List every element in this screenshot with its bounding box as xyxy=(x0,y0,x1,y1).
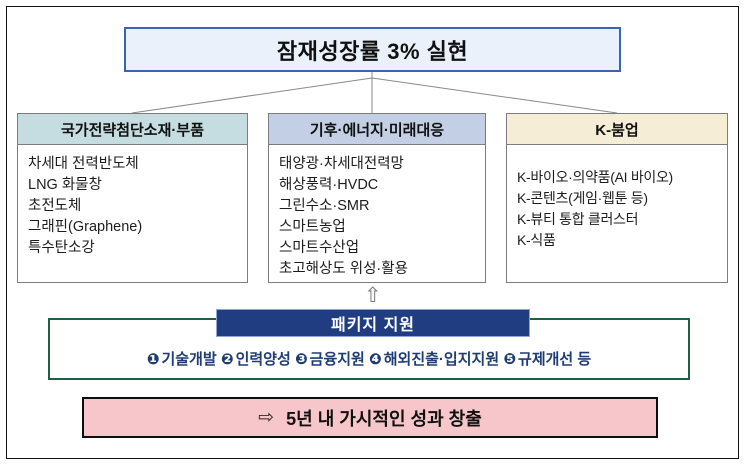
support-number: ❷ xyxy=(221,351,234,368)
support-number: ❶ xyxy=(147,351,160,368)
support-item-5: ❺규제개선 등 xyxy=(503,351,591,368)
package-support-bar: 패키지 지원 xyxy=(216,309,530,337)
pillar-column-k-boomup: K-붐업 K-바이오·의약품(AI 바이오) K-콘텐츠(게임·웹툰 등) K-… xyxy=(506,113,728,283)
list-item: 차세대 전력반도체 xyxy=(28,154,237,175)
list-item: 초고해상도 위성·활용 xyxy=(279,259,475,280)
arrow-up-icon: ⇧ xyxy=(364,285,382,306)
pillar-header-label: K-붐업 xyxy=(595,119,638,140)
pillar-header-climate-energy: 기후·에너지·미래대응 xyxy=(268,113,486,145)
list-item: LNG 화물창 xyxy=(28,175,237,196)
support-label: 인력양성 xyxy=(236,351,291,368)
list-item: 초전도체 xyxy=(28,196,237,217)
support-number: ❺ xyxy=(503,351,516,368)
list-item: K-뷰티 통합 클러스터 xyxy=(517,209,717,230)
pillar-header-label: 기후·에너지·미래대응 xyxy=(310,119,444,140)
page-title: 잠재성장률 3% 실현 xyxy=(277,34,468,66)
list-item: 태양광·차세대전력망 xyxy=(279,154,475,175)
pillar-header-label: 국가전략첨단소재·부품 xyxy=(61,119,204,140)
package-support-bar-label: 패키지 지원 xyxy=(331,311,415,335)
list-item: K-바이오·의약품(AI 바이오) xyxy=(517,167,717,188)
pillar-header-k-boomup: K-붐업 xyxy=(506,113,728,145)
pillar-column-climate-energy: 기후·에너지·미래대응 태양광·차세대전력망 해상풍력·HVDC 그린수소·SM… xyxy=(268,113,486,283)
list-item: 특수탄소강 xyxy=(28,238,237,259)
support-label: 해외진출·입지지원 xyxy=(384,351,499,368)
list-item: 해상풍력·HVDC xyxy=(279,175,475,196)
outcome-box: ⇨ 5년 내 가시적인 성과 창출 xyxy=(82,397,658,438)
support-item-3: ❸금융지원 xyxy=(295,351,369,368)
package-support-inner: ❶기술개발 ❷인력양성 ❸금융지원 ❹해외진출·입지지원 ❺규제개선 등 xyxy=(50,348,688,378)
outcome-label: 5년 내 가시적인 성과 창출 xyxy=(286,405,482,431)
arrow-right-icon: ⇨ xyxy=(258,408,274,427)
pillar-column-strategic-materials: 국가전략첨단소재·부품 차세대 전력반도체 LNG 화물창 초전도체 그래핀(G… xyxy=(17,113,248,283)
support-label: 금융지원 xyxy=(310,351,365,368)
list-item: 스마트농업 xyxy=(279,217,475,238)
support-item-4: ❹해외진출·입지지원 xyxy=(369,351,503,368)
pillar-items-climate-energy: 태양광·차세대전력망 해상풍력·HVDC 그린수소·SMR 스마트농업 스마트수… xyxy=(268,145,486,283)
support-item-2: ❷인력양성 xyxy=(221,351,295,368)
list-item: 그린수소·SMR xyxy=(279,196,475,217)
goal-title-box: 잠재성장률 3% 실현 xyxy=(124,27,621,72)
support-label: 기술개발 xyxy=(162,351,217,368)
pillar-items-strategic-materials: 차세대 전력반도체 LNG 화물창 초전도체 그래핀(Graphene) 특수탄… xyxy=(17,145,248,283)
list-item: 스마트수산업 xyxy=(279,238,475,259)
list-item: 그래핀(Graphene) xyxy=(28,217,237,238)
list-item: K-콘텐츠(게임·웹툰 등) xyxy=(517,188,717,209)
support-item-1: ❶기술개발 xyxy=(147,351,221,368)
diagram-canvas: 잠재성장률 3% 실현 국가전략첨단소재·부품 차세대 전력반도체 LNG 화물… xyxy=(0,0,745,465)
list-item: K-식품 xyxy=(517,230,717,251)
support-number: ❸ xyxy=(295,351,308,368)
pillar-header-strategic-materials: 국가전략첨단소재·부품 xyxy=(17,113,248,145)
support-number: ❹ xyxy=(369,351,382,368)
support-label: 규제개선 등 xyxy=(518,351,591,368)
pillar-items-k-boomup: K-바이오·의약품(AI 바이오) K-콘텐츠(게임·웹툰 등) K-뷰티 통합… xyxy=(506,145,728,283)
